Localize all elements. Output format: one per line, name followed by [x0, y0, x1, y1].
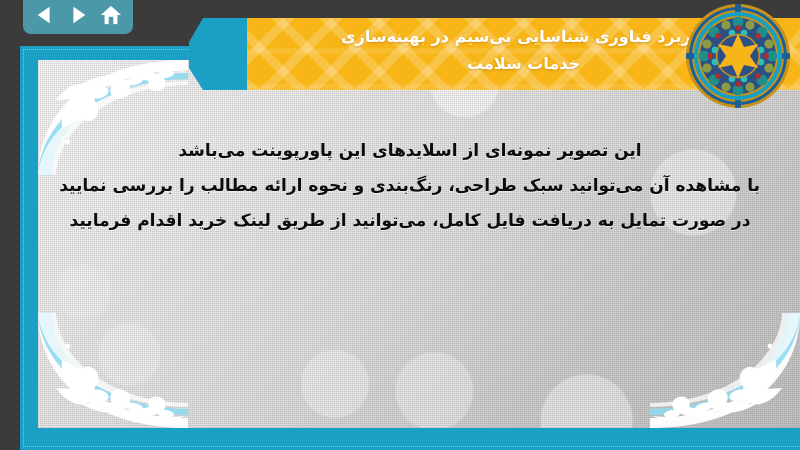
home-icon[interactable]: [98, 2, 124, 28]
slide-body-text: این تصویر نمونه‌ای از اسلایدهای این پاور…: [60, 134, 760, 239]
triangle-right-icon[interactable]: [65, 2, 91, 28]
slide-frame: این تصویر نمونه‌ای از اسلایدهای این پاور…: [20, 46, 800, 450]
slide-navigation-bar[interactable]: [23, 0, 133, 34]
islamic-medallion-icon: [684, 2, 792, 110]
slide-canvas: [38, 60, 800, 428]
body-line-1: این تصویر نمونه‌ای از اسلایدهای این پاور…: [60, 134, 760, 169]
title-connector-arrow: [189, 18, 249, 90]
triangle-left-icon[interactable]: [32, 2, 58, 28]
presentation-viewer: این تصویر نمونه‌ای از اسلایدهای این پاور…: [0, 0, 800, 450]
body-line-3: در صورت تمایل به دریافت فایل کامل، می‌تو…: [60, 204, 760, 239]
body-line-2: با مشاهده آن می‌توانید سبک طراحی، رنگ‌بن…: [60, 169, 760, 204]
